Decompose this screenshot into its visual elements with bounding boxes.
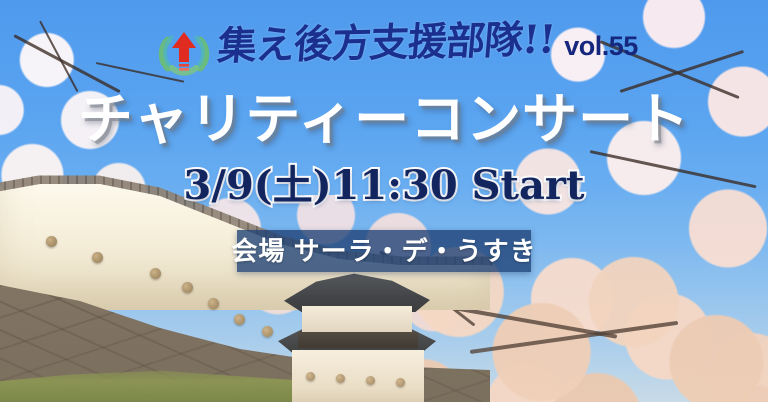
red-arrow-icon (172, 32, 196, 71)
support-corps-emblem-logo (156, 24, 212, 80)
page-title: チャリティーコンサート (0, 92, 768, 147)
volume-number: vol.55 (564, 33, 638, 60)
brush-headline-group: 集え後方支援部隊!! vol.55 (218, 24, 638, 63)
venue-text: 会場 サーラ・デ・うすき (231, 238, 536, 264)
event-datetime: 3/9(土)11:30 Start (0, 166, 768, 206)
brush-headline: 集え後方支援部隊!! (216, 20, 556, 66)
event-poster: 集え後方支援部隊!! vol.55 チャリティーコンサート 3/9(土)11:3… (0, 0, 768, 402)
venue-banner: 会場 サーラ・デ・うすき (237, 230, 531, 272)
